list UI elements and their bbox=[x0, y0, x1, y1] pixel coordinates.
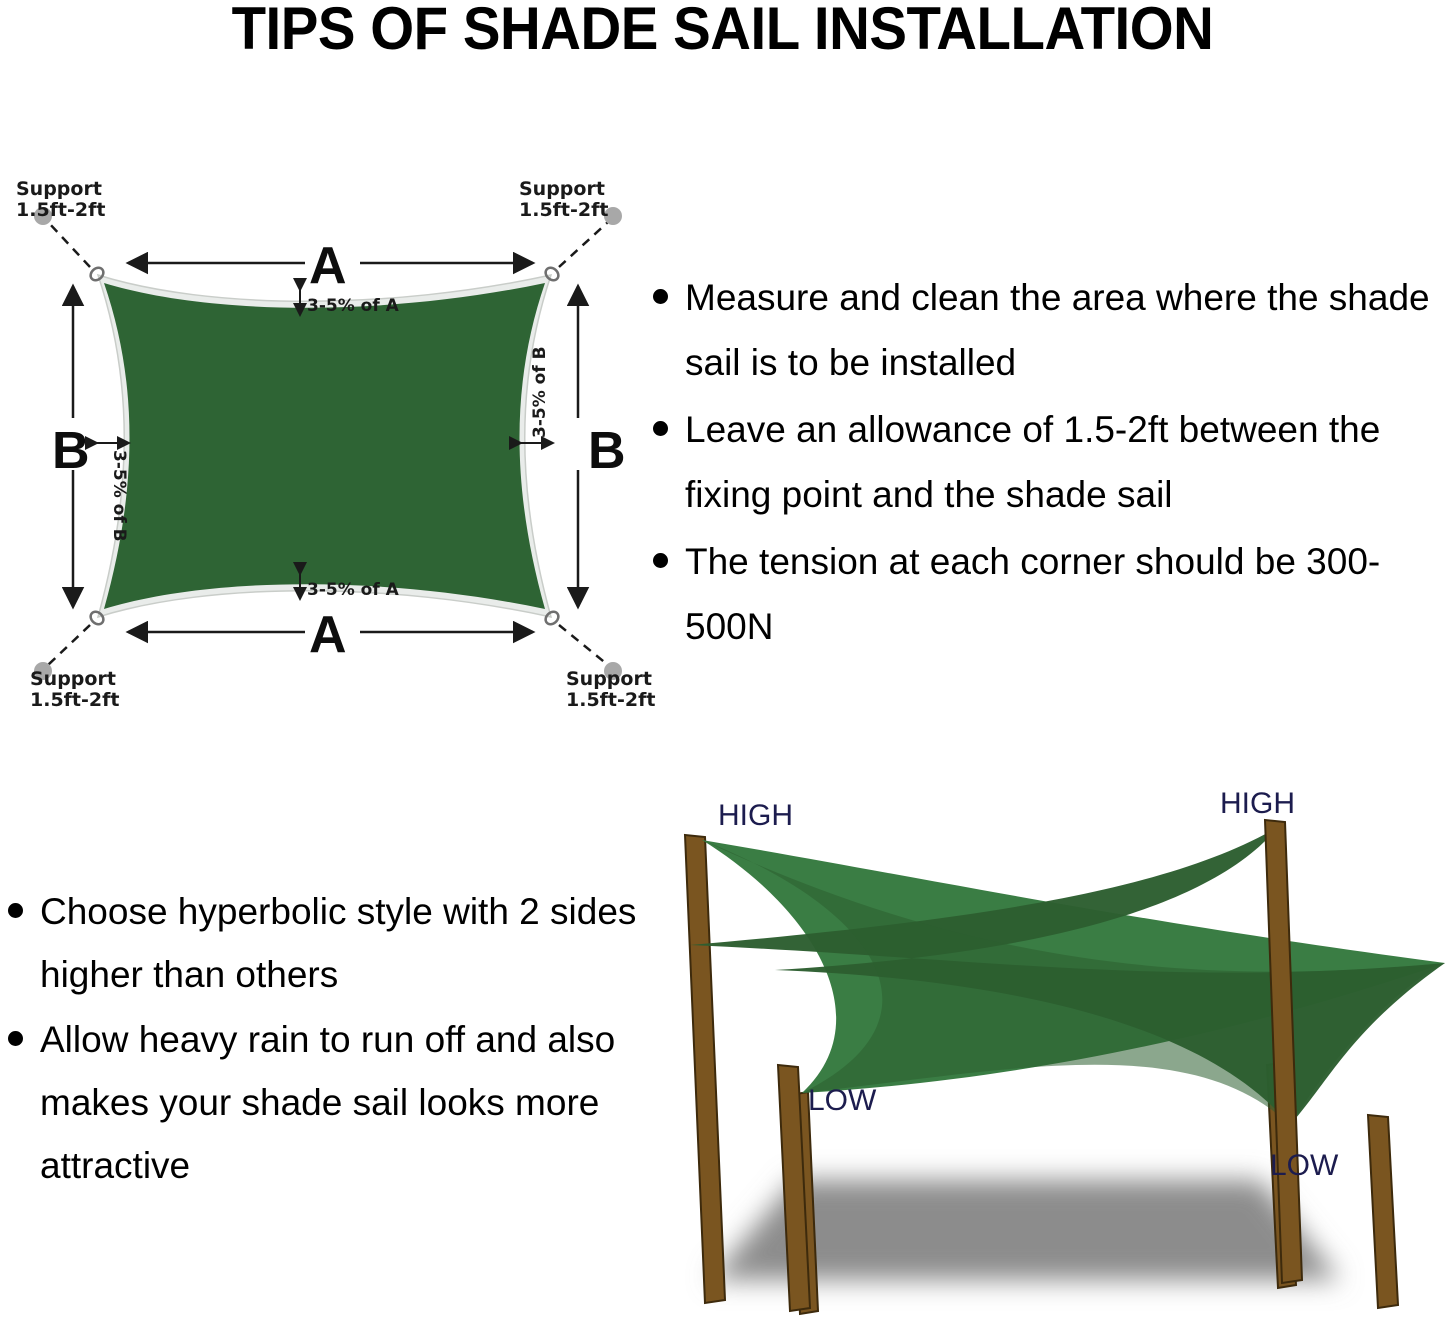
support-value-bottom-right: 1.5ft-2ft bbox=[566, 689, 655, 711]
list-item: Allow heavy rain to run off and also mak… bbox=[0, 1008, 640, 1197]
sail-shape bbox=[98, 275, 551, 617]
list-item: The tension at each corner should be 300… bbox=[645, 529, 1445, 659]
page-title: TIPS OF SHADE SAIL INSTALLATION bbox=[43, 0, 1401, 63]
support-label-bottom-left: Support bbox=[30, 668, 116, 690]
dimension-label-a-top: A bbox=[309, 237, 347, 295]
label-high-right: HIGH bbox=[1220, 787, 1295, 820]
dimension-label-a-bottom: A bbox=[309, 606, 347, 664]
label-low-right: LOW bbox=[1270, 1149, 1339, 1182]
support-value-bottom-left: 1.5ft-2ft bbox=[30, 689, 119, 711]
dimension-label-b-left: B bbox=[52, 422, 90, 480]
tips-list-measure: Measure and clean the area where the sha… bbox=[645, 265, 1445, 665]
support-label-top-left: Support bbox=[16, 178, 102, 200]
support-label-bottom-right: Support bbox=[566, 668, 652, 690]
tips-list-hyperbolic: Choose hyperbolic style with 2 sides hig… bbox=[0, 880, 640, 1210]
curve-pct-right: 3-5% of B bbox=[530, 346, 550, 438]
rectangular-sail-diagram: Support 1.5ft-2ft Support 1.5ft-2ft Supp… bbox=[0, 150, 660, 740]
curve-pct-left: 3-5% of B bbox=[109, 450, 129, 542]
list-item: Choose hyperbolic style with 2 sides hig… bbox=[0, 880, 640, 1006]
bullet-list: Measure and clean the area where the sha… bbox=[645, 265, 1445, 659]
curve-pct-top: 3-5% of A bbox=[307, 296, 400, 316]
support-value-top-left: 1.5ft-2ft bbox=[16, 199, 105, 221]
label-high-left: HIGH bbox=[718, 799, 793, 832]
hyperbolic-sail-diagram: HIGH HIGH LOW LOW bbox=[650, 780, 1445, 1319]
label-low-left: LOW bbox=[808, 1084, 877, 1117]
list-item: Leave an allowance of 1.5-2ft between th… bbox=[645, 397, 1445, 527]
post-low-right bbox=[1368, 1115, 1398, 1308]
post-high-left bbox=[685, 835, 725, 1303]
bullet-list: Choose hyperbolic style with 2 sides hig… bbox=[0, 880, 640, 1197]
list-item: Measure and clean the area where the sha… bbox=[645, 265, 1445, 395]
curve-pct-bottom: 3-5% of A bbox=[307, 580, 400, 600]
dimension-label-b-right: B bbox=[588, 422, 626, 480]
support-label-top-right: Support bbox=[519, 178, 605, 200]
support-value-top-right: 1.5ft-2ft bbox=[519, 199, 608, 221]
